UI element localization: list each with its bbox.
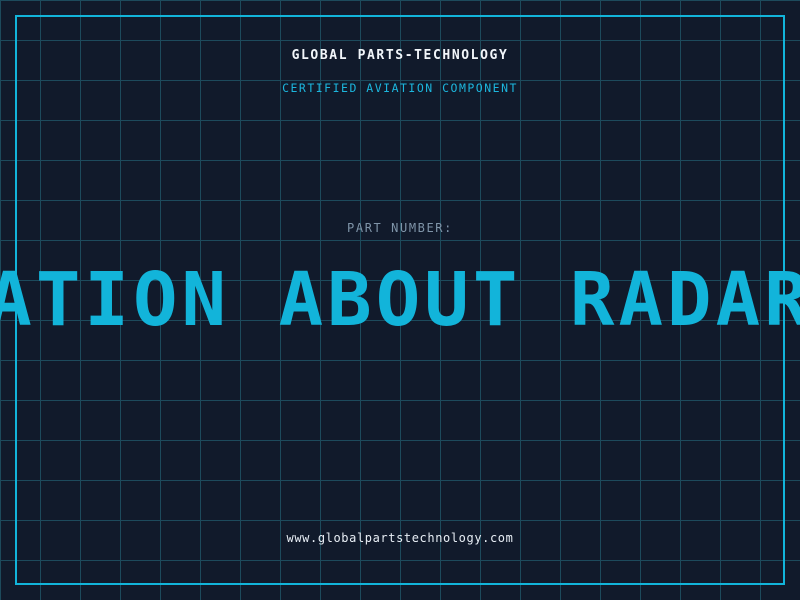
- part-number-label: PART NUMBER:: [0, 221, 800, 235]
- page-subtitle: CERTIFIED AVIATION COMPONENT: [0, 81, 800, 95]
- content-area: GLOBAL PARTS-TECHNOLOGY CERTIFIED AVIATI…: [0, 0, 800, 600]
- blueprint-canvas: GLOBAL PARTS-TECHNOLOGY CERTIFIED AVIATI…: [0, 0, 800, 600]
- headline-text: ATION ABOUT RADAR: [0, 258, 800, 342]
- page-title: GLOBAL PARTS-TECHNOLOGY: [0, 48, 800, 63]
- headline-container: ATION ABOUT RADAR: [0, 258, 800, 342]
- footer-website-url: www.globalpartstechnology.com: [0, 531, 800, 545]
